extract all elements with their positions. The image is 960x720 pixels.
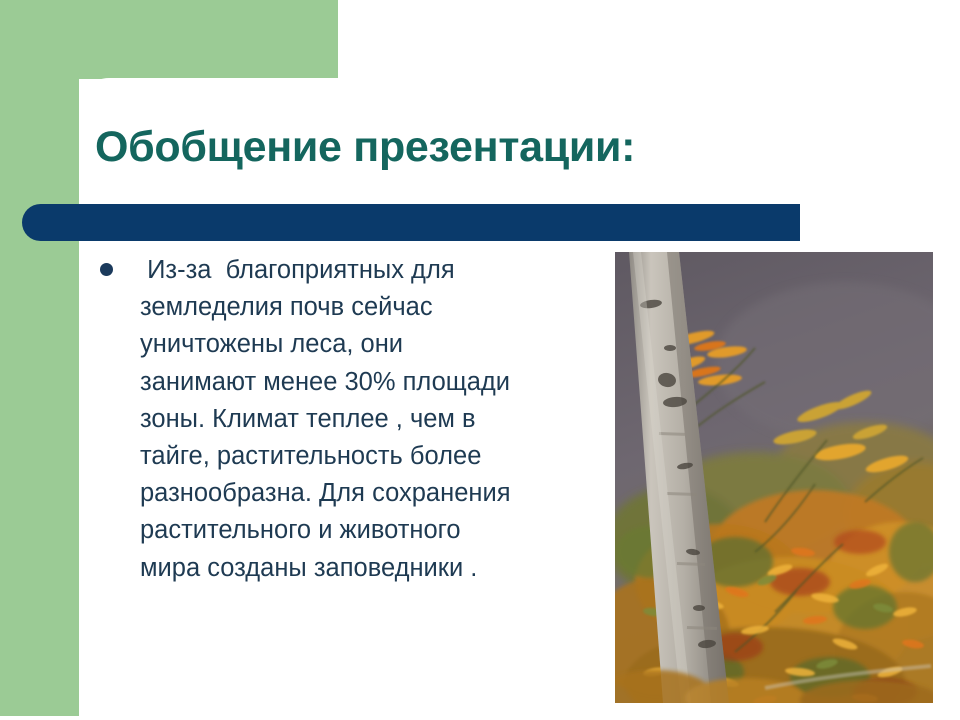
bullet-dot-icon — [100, 263, 113, 276]
autumn-forest-illustration — [615, 252, 933, 703]
slide-title: Обобщение презентации: — [95, 124, 855, 171]
decor-green-left-band — [0, 0, 79, 716]
slide-body: Из-за благоприятных для земледелия почв … — [95, 252, 515, 587]
decor-green-top-block — [0, 0, 338, 79]
bullet-text: Из-за благоприятных для земледелия почв … — [140, 256, 518, 582]
autumn-forest-photo — [615, 252, 933, 703]
list-item: Из-за благоприятных для земледелия почв … — [95, 252, 515, 587]
presentation-slide: Обобщение презентации: Из-за благоприятн… — [0, 0, 960, 720]
title-accent-bar — [22, 204, 800, 241]
